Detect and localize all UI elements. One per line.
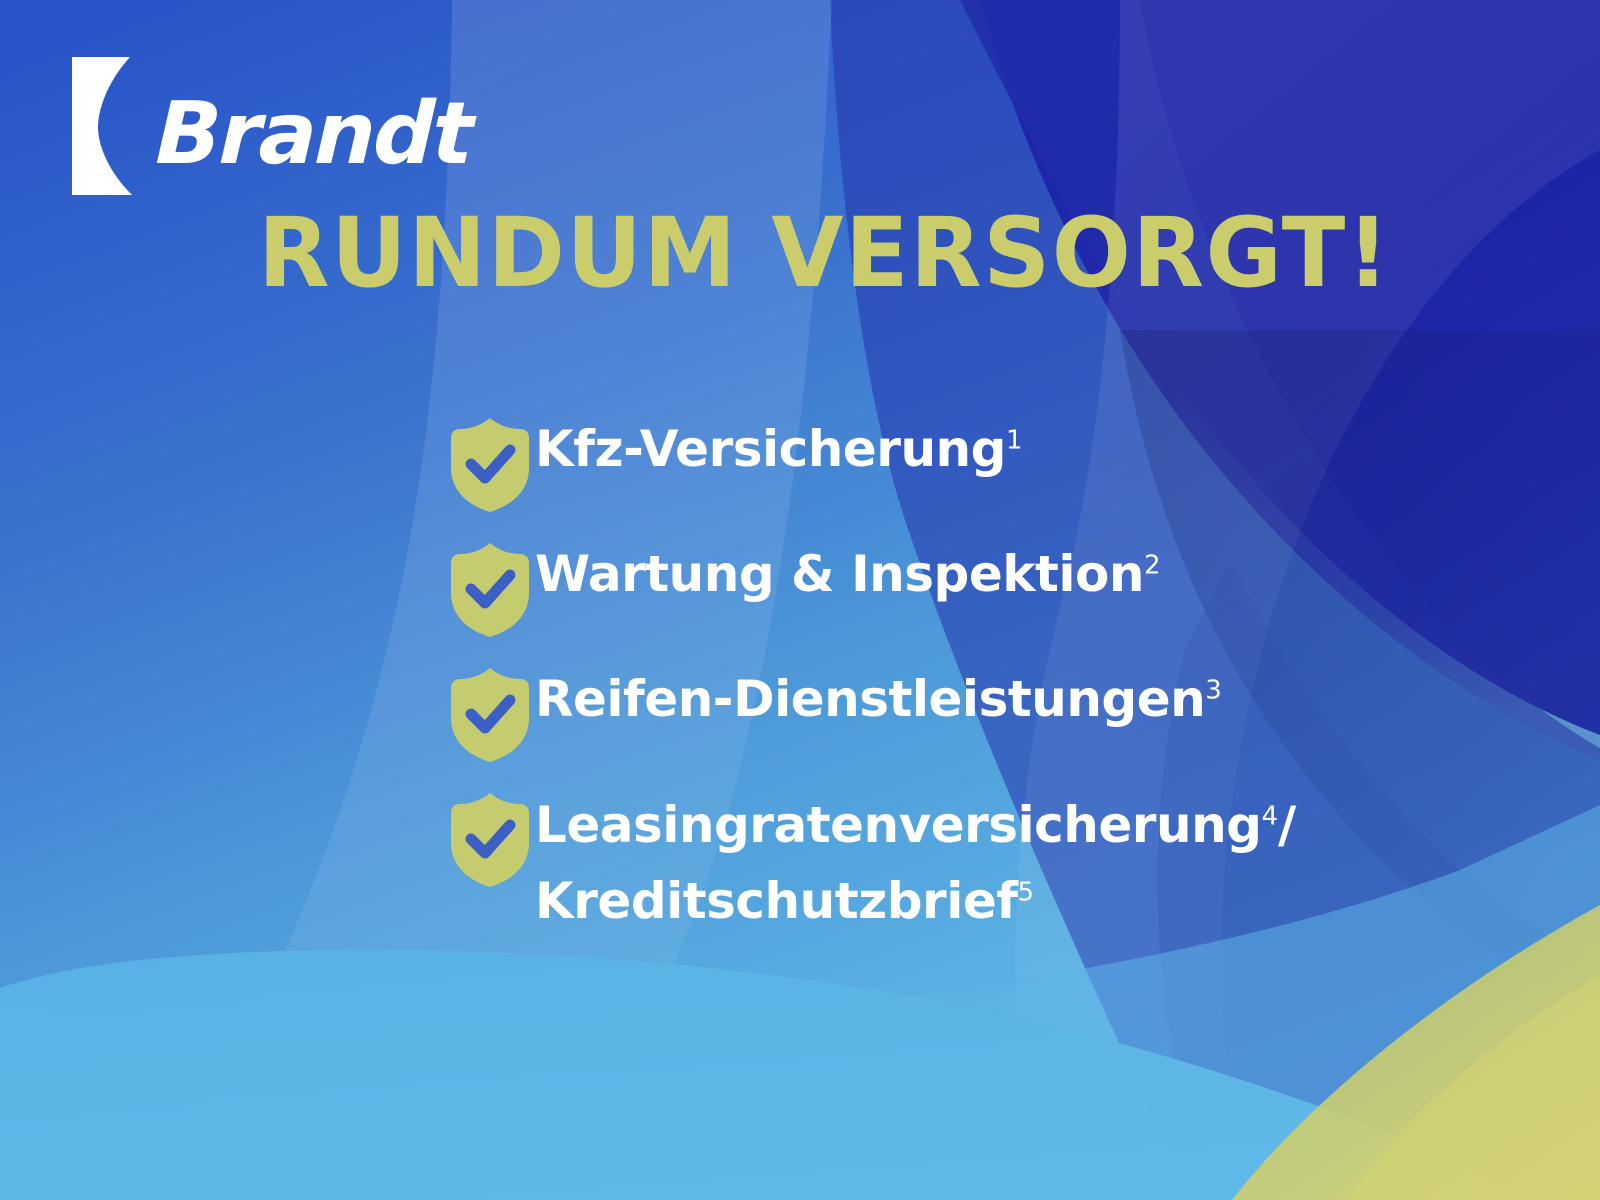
benefit-footnote: 3 — [1205, 675, 1222, 705]
benefit-label-text: Kfz-Versicherung — [535, 420, 1006, 478]
shield-check-icon — [449, 666, 531, 764]
shield-check-icon — [449, 541, 531, 639]
benefit-item-reifen-dienstleistungen: Reifen-Dienstleistungen3 — [449, 662, 1499, 787]
benefit-label: Leasingratenversicherung4/ Kreditschutzb… — [535, 787, 1455, 939]
benefit-item-leasingratenversicherung: Leasingratenversicherung4/ Kreditschutzb… — [449, 787, 1499, 939]
bracket-mark-icon — [72, 57, 150, 195]
promo-slide: Brandt RUNDUM VERSORGT! Kfz-Versicherung… — [0, 0, 1600, 1200]
shield-check-icon — [449, 416, 531, 514]
benefit-label-text: Leasingratenversicherung — [535, 796, 1261, 854]
benefit-footnote-2: 5 — [1018, 877, 1035, 907]
benefit-footnote: 4 — [1261, 801, 1278, 831]
benefit-label-text: Wartung & Inspektion — [535, 545, 1144, 603]
brand-logo[interactable]: Brandt — [72, 52, 471, 200]
shield-check-icon — [449, 791, 531, 889]
benefit-separator: / — [1278, 796, 1296, 854]
benefit-footnote: 1 — [1006, 425, 1023, 455]
benefit-label-text: Reifen-Dienstleistungen — [535, 670, 1205, 728]
benefit-item-wartung-inspektion: Wartung & Inspektion2 — [449, 537, 1499, 662]
headline: RUNDUM VERSORGT! — [258, 203, 1391, 304]
benefit-label: Kfz-Versicherung1 — [535, 412, 1022, 486]
brand-wordmark: Brandt — [154, 91, 472, 177]
benefit-label: Reifen-Dienstleistungen3 — [535, 662, 1222, 736]
benefit-label-text-2: Kreditschutzbrief — [535, 872, 1018, 930]
benefits-list: Kfz-Versicherung1 Wartung & Inspektion2 … — [449, 412, 1499, 939]
benefit-footnote: 2 — [1144, 550, 1161, 580]
benefit-item-kfz-versicherung: Kfz-Versicherung1 — [449, 412, 1499, 537]
benefit-label: Wartung & Inspektion2 — [535, 537, 1161, 611]
